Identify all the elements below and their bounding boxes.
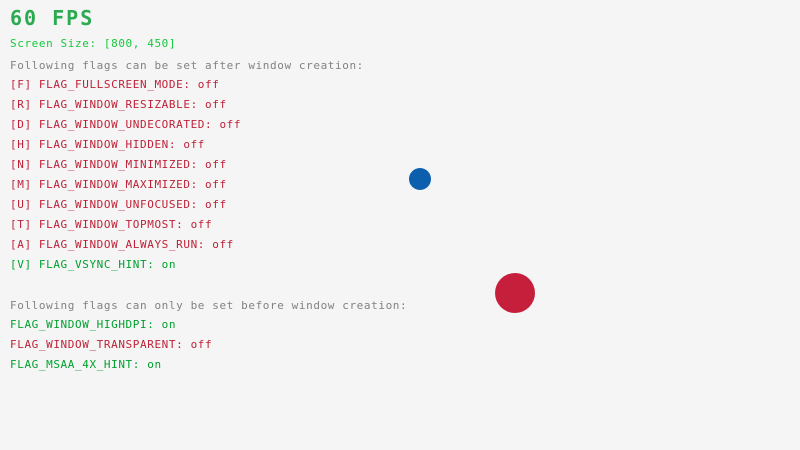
- flag-row-vsync-hint[interactable]: [V] FLAG_VSYNC_HINT: on: [10, 259, 176, 270]
- fps-counter: 60 FPS: [10, 8, 94, 28]
- flag-row-window-minimized[interactable]: [N] FLAG_WINDOW_MINIMIZED: off: [10, 159, 227, 170]
- raylib-window-canvas[interactable]: 60 FPS Screen Size: [800, 450] Following…: [0, 0, 800, 450]
- flag-row-window-resizable[interactable]: [R] FLAG_WINDOW_RESIZABLE: off: [10, 99, 227, 110]
- flag-row-window-unfocused[interactable]: [U] FLAG_WINDOW_UNFOCUSED: off: [10, 199, 227, 210]
- red-ball: [495, 273, 535, 313]
- heading-flags-before-creation: Following flags can only be set before w…: [10, 300, 407, 311]
- flag-row-window-undecorated[interactable]: [D] FLAG_WINDOW_UNDECORATED: off: [10, 119, 241, 130]
- flag-row-window-highdpi: FLAG_WINDOW_HIGHDPI: on: [10, 319, 176, 330]
- flag-row-window-hidden[interactable]: [H] FLAG_WINDOW_HIDDEN: off: [10, 139, 205, 150]
- flag-row-msaa-4x-hint: FLAG_MSAA_4X_HINT: on: [10, 359, 162, 370]
- screen-size-label: Screen Size: [800, 450]: [10, 38, 176, 49]
- flag-row-window-topmost[interactable]: [T] FLAG_WINDOW_TOPMOST: off: [10, 219, 212, 230]
- flag-row-window-transparent: FLAG_WINDOW_TRANSPARENT: off: [10, 339, 212, 350]
- heading-flags-after-creation: Following flags can be set after window …: [10, 60, 364, 71]
- flag-row-window-always-run[interactable]: [A] FLAG_WINDOW_ALWAYS_RUN: off: [10, 239, 234, 250]
- flag-row-window-maximized[interactable]: [M] FLAG_WINDOW_MAXIMIZED: off: [10, 179, 227, 190]
- flag-row-fullscreen-mode[interactable]: [F] FLAG_FULLSCREEN_MODE: off: [10, 79, 219, 90]
- blue-ball: [409, 168, 431, 190]
